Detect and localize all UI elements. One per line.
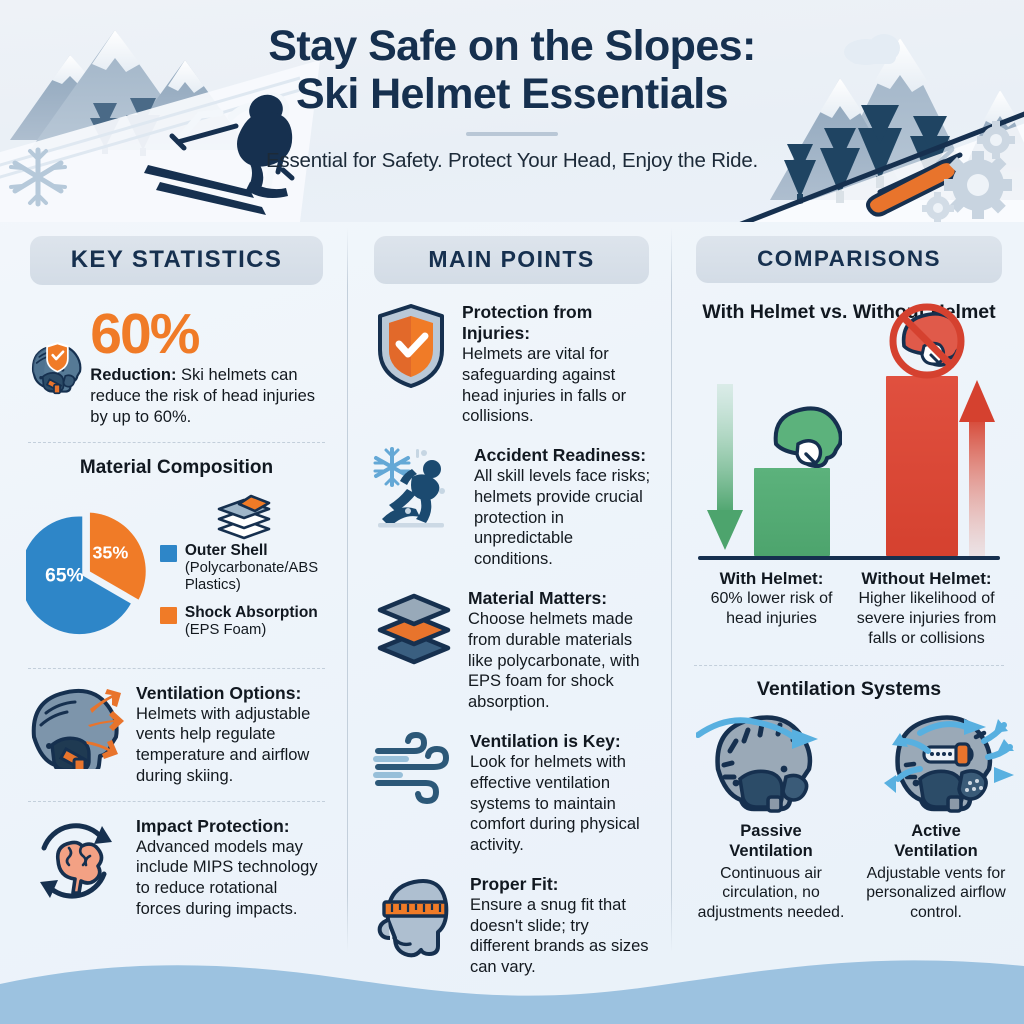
legend-sub-outer-shell: (Polycarbonate/ABS Plastics): [185, 560, 329, 594]
legend-item-outer-shell: Outer Shell (Polycarbonate/ABS Plastics): [160, 542, 329, 594]
columns-container: KEY STATISTICS: [0, 222, 1024, 982]
comparison-cell-without-helmet: Without Helmet: Higher likelihood of sev…: [849, 569, 1004, 649]
stat-description: Reduction: Ski helmets can reduce the ri…: [90, 365, 325, 427]
legend-swatch-outer-shell: [160, 545, 177, 562]
comparison-labels: With Helmet: 60% lower risk of head inju…: [694, 569, 1004, 649]
pie-legend: Outer Shell (Polycarbonate/ABS Plastics)…: [160, 494, 329, 647]
comparison-cell-with-helmet: With Helmet: 60% lower risk of head inju…: [694, 569, 849, 649]
column-main-points: MAIN POINTS Protection from Injuries: He…: [348, 222, 671, 982]
divider-left-3: [28, 801, 325, 802]
no-helmet-prohibited-icon: [884, 298, 970, 384]
stat-hero-row: 60% Reduction: Ski helmets can reduce th…: [24, 303, 329, 428]
lead-proper-fit: Proper Fit:: [470, 874, 651, 895]
vent-name-passive-line1: Passive: [696, 822, 846, 842]
legend-sub-shock-absorption: (EPS Foam): [185, 622, 318, 639]
vent-name-active-line1: Active: [858, 822, 1014, 842]
desc-protection-from-injuries: Helmets are vital for safeguarding again…: [462, 344, 651, 427]
list-item-protection-from-injuries: Protection from Injuries: Helmets are vi…: [368, 302, 655, 427]
comparison-bar-chart: [698, 328, 1000, 560]
pie-chart-block: 65% 35% Oute: [24, 489, 329, 654]
layers-icon: [211, 494, 277, 540]
ventilation-systems-title: Ventilation Systems: [690, 678, 1008, 701]
arrow-down-icon: [702, 384, 748, 556]
brain-rotation-icon: [28, 816, 124, 908]
adjustable-vent-slider: [924, 744, 972, 765]
header-text-block: Stay Safe on the Slopes: Ski Helmet Esse…: [0, 0, 1024, 173]
ventilation-cell-active: Active Ventilation Adjustable vents for …: [852, 707, 1020, 923]
bar-with-helmet: [754, 468, 830, 556]
header-banner: Stay Safe on the Slopes: Ski Helmet Esse…: [0, 0, 1024, 222]
desc-accident-readiness: All skill levels face risks; helmets pro…: [474, 466, 651, 570]
lead-material-matters: Material Matters:: [468, 588, 651, 609]
desc-material-matters: Choose helmets made from durable materia…: [468, 609, 651, 713]
comparison-sub-without-helmet: Higher likelihood of severe injuries fro…: [853, 589, 1000, 649]
stat-lead: Reduction:: [90, 366, 176, 384]
title-divider: [466, 132, 558, 136]
material-composition-pie-chart: 65% 35%: [26, 489, 154, 654]
section-heading-comparisons: COMPARISONS: [696, 236, 1002, 283]
section-heading-key-statistics: KEY STATISTICS: [30, 236, 323, 285]
stat-text-block: 60% Reduction: Ski helmets can reduce th…: [90, 305, 325, 428]
green-helmet-icon: [770, 404, 842, 468]
passive-vent-helmet-icon: [696, 707, 846, 813]
active-vent-helmet-icon: [858, 707, 1014, 813]
bar-without-helmet: [886, 376, 958, 556]
pie-chart-title: Material Composition: [24, 457, 329, 479]
lead-ventilation-is-key: Ventilation is Key:: [470, 731, 651, 752]
desc-proper-fit: Ensure a snug fit that doesn't slide; tr…: [470, 895, 651, 978]
arrow-up-icon: [954, 370, 1000, 556]
column-key-statistics: KEY STATISTICS: [0, 222, 347, 982]
desc-ventilation-is-key: Look for helmets with effective ventilat…: [470, 752, 651, 856]
page-title-line1: Stay Safe on the Slopes:: [0, 22, 1024, 70]
desc-impact-protection: Advanced models may include MIPS technol…: [136, 837, 325, 920]
section-heading-main-points: MAIN POINTS: [374, 236, 649, 284]
lead-ventilation-options: Ventilation Options:: [136, 683, 325, 704]
vent-name-active-line2: Ventilation: [858, 842, 1014, 862]
chart-baseline: [698, 556, 1000, 560]
vent-desc-passive: Continuous air circulation, no adjustmen…: [696, 864, 846, 923]
shield-check-icon: [372, 302, 450, 388]
list-item-material-matters: Material Matters: Choose helmets made fr…: [368, 588, 655, 713]
stat-value-60-percent: 60%: [90, 307, 325, 361]
material-layers-icon: [372, 588, 456, 670]
head-measuring-tape-icon: [372, 874, 458, 958]
divider-right-1: [694, 665, 1004, 666]
infographic-canvas: Stay Safe on the Slopes: Ski Helmet Esse…: [0, 0, 1024, 1024]
ventilation-cell-passive: Passive Ventilation Continuous air circu…: [690, 707, 852, 923]
helmet-vent-arrows-icon: [28, 683, 124, 769]
legend-name-outer-shell: Outer Shell: [185, 542, 329, 560]
column-comparisons: COMPARISONS With Helmet vs. Without Helm…: [672, 222, 1024, 982]
list-item-ventilation-is-key: Ventilation is Key: Look for helmets wit…: [368, 731, 655, 856]
list-item-proper-fit: Proper Fit: Ensure a snug fit that doesn…: [368, 874, 655, 978]
vent-name-passive-line2: Ventilation: [696, 842, 846, 862]
pie-label-outer-shell: 65%: [45, 565, 83, 586]
list-item-accident-readiness: Accident Readiness: All skill levels fac…: [368, 445, 655, 570]
divider-left-1: [28, 442, 325, 443]
ski-helmet-shield-icon: [28, 305, 84, 427]
measuring-tape: [384, 902, 446, 916]
comparison-head-without-helmet: Without Helmet:: [853, 569, 1000, 589]
desc-ventilation-options: Helmets with adjustable vents help regul…: [136, 704, 325, 787]
comparison-sub-with-helmet: 60% lower risk of head injuries: [698, 589, 845, 629]
divider-left-2: [28, 668, 325, 669]
wind-lines-icon: [372, 731, 458, 807]
vent-desc-active: Adjustable vents for personalized airflo…: [858, 864, 1014, 923]
ventilation-comparison-grid: Passive Ventilation Continuous air circu…: [690, 707, 1008, 923]
legend-name-shock-absorption: Shock Absorption: [185, 604, 318, 622]
comparison-head-with-helmet: With Helmet:: [698, 569, 845, 589]
list-item-impact-protection: Impact Protection: Advanced models may i…: [24, 816, 329, 920]
legend-swatch-shock-absorption: [160, 607, 177, 624]
list-item-ventilation-options: Ventilation Options: Helmets with adjust…: [24, 683, 329, 787]
page-title-line2: Ski Helmet Essentials: [0, 70, 1024, 118]
lead-impact-protection: Impact Protection:: [136, 816, 325, 837]
falling-skier-snowflake-icon: [372, 445, 462, 531]
page-subtitle: Essential for Safety. Protect Your Head,…: [0, 149, 1024, 173]
legend-item-shock-absorption: Shock Absorption (EPS Foam): [160, 604, 329, 639]
lead-protection-from-injuries: Protection from Injuries:: [462, 302, 651, 344]
pie-label-shock-absorption: 35%: [92, 542, 128, 562]
lead-accident-readiness: Accident Readiness:: [474, 445, 651, 466]
